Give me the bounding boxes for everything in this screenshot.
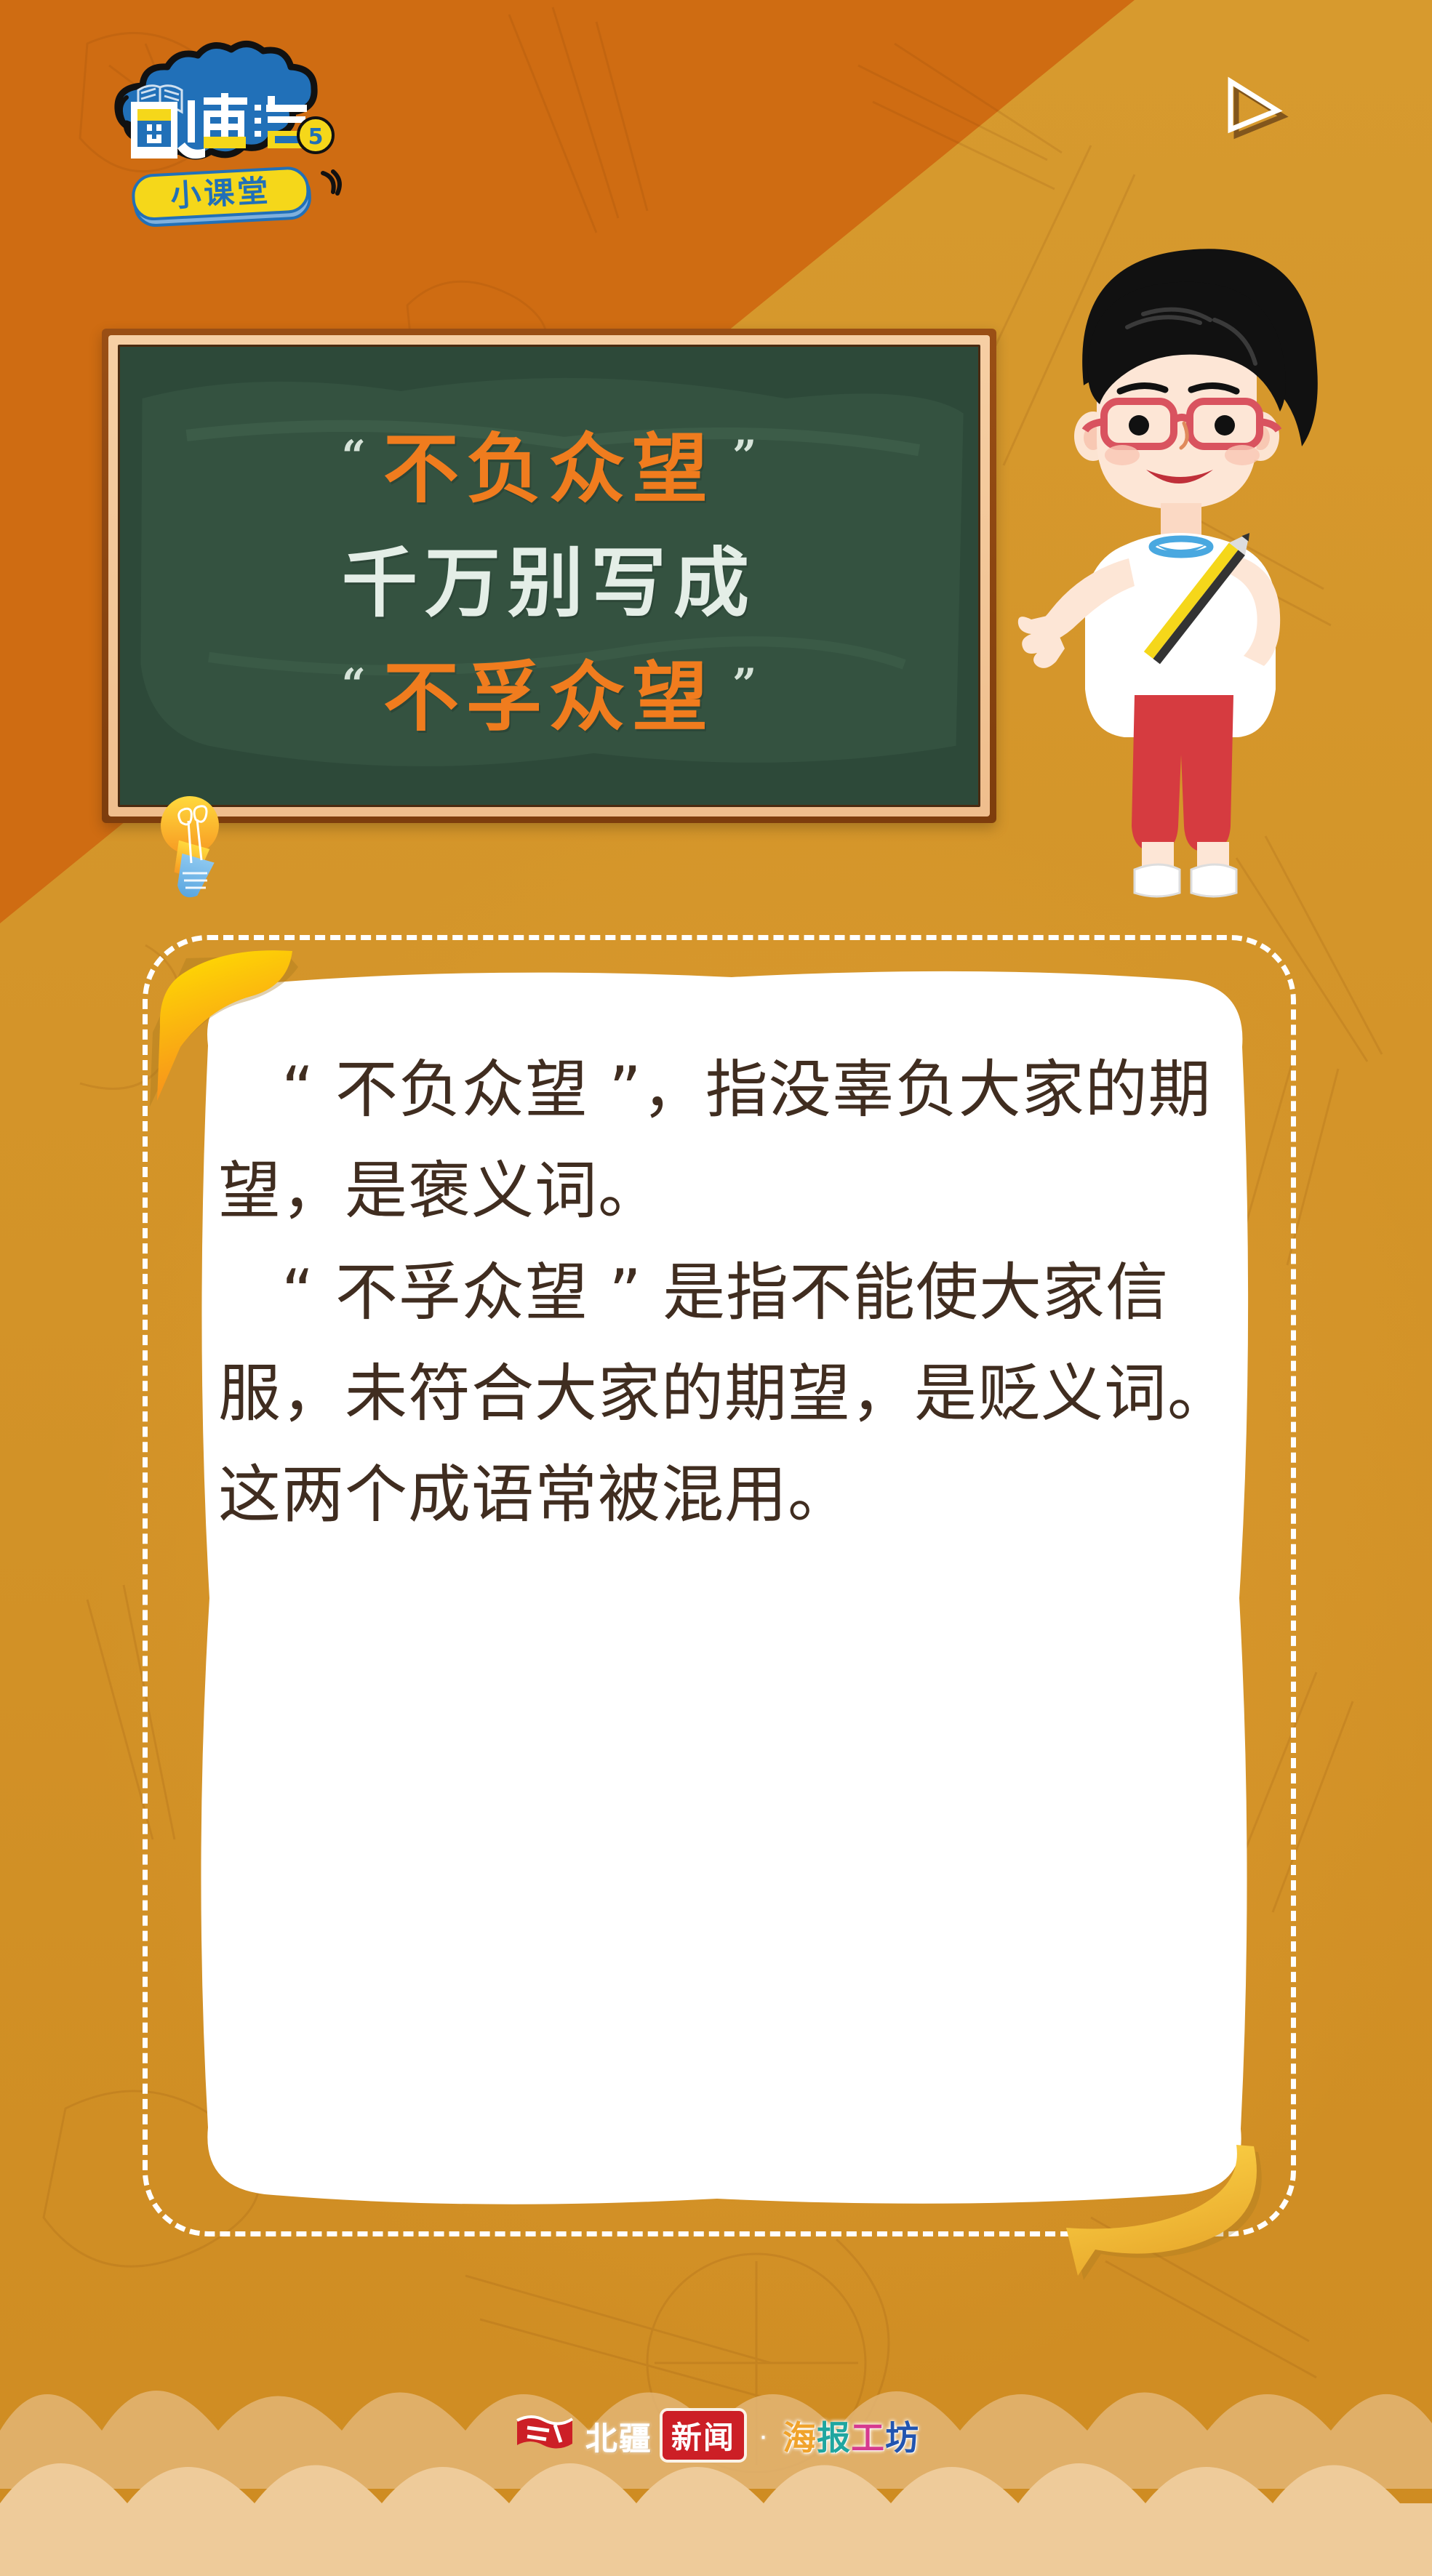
quote-open-icon: “ xyxy=(342,444,366,469)
workshop-char-2: 报 xyxy=(817,2412,851,2460)
logo-sub-banner: 小课堂 xyxy=(132,167,311,227)
logo-accent-tong xyxy=(204,137,246,148)
shoe-right xyxy=(1191,864,1236,896)
footer-brand-badge: 新闻 xyxy=(663,2411,744,2460)
cheek-right xyxy=(1225,445,1260,465)
blackboard-line-2: 千万别写成 xyxy=(120,521,978,631)
blackboard-line-1: “ 不负众望 ” xyxy=(120,407,978,517)
shoe-left xyxy=(1135,864,1180,896)
card-body-text: “ 不负众望 ”，指没辜负大家的期望，是褒义词。 “ 不孚众望 ” 是指不能使大… xyxy=(218,1040,1236,2145)
card-paragraph-2: “ 不孚众望 ” 是指不能使大家信服，未符合大家的期望，是贬义词。这两个成语常被… xyxy=(218,1243,1236,1546)
cheek-left xyxy=(1105,445,1140,465)
blackboard-warning-text: 千万别写成 xyxy=(342,521,756,631)
workshop-char-4: 坊 xyxy=(885,2412,919,2460)
footer-separator: · xyxy=(754,2421,772,2450)
blackboard-surface: “ 不负众望 ” 千万别写成 “ 不孚众望 ” xyxy=(118,345,980,807)
quote-close-icon-2: ” xyxy=(732,672,756,697)
blackboard-phrase-wrong: 不孚众望 xyxy=(383,635,715,745)
ribbon-top-left xyxy=(143,945,339,1112)
blackboard-frame: “ 不负众望 ” 千万别写成 “ 不孚众望 ” xyxy=(108,335,990,816)
ribbon-bottom-right xyxy=(1040,2145,1280,2298)
logo-sub-banner-text: 小课堂 xyxy=(169,173,271,214)
logo-char-guo xyxy=(131,102,177,159)
workshop-char-3: 工 xyxy=(851,2412,885,2460)
logo-accent-yu-inner xyxy=(275,136,298,143)
poster-canvas: 5 小课堂 xyxy=(0,0,1432,2576)
footer-brand: 北疆 xyxy=(585,2412,652,2459)
program-logo: 5 小课堂 xyxy=(93,64,355,238)
lightbulb-icon xyxy=(156,787,236,911)
workshop-char-1: 海 xyxy=(783,2412,817,2460)
pants xyxy=(1132,695,1233,852)
eye-left xyxy=(1129,415,1149,436)
quote-open-icon-2: “ xyxy=(342,672,366,697)
blackboard-lines: “ 不负众望 ” 千万别写成 “ 不孚众望 ” xyxy=(120,347,978,805)
boy-student-illustration xyxy=(1018,218,1360,923)
eye-right xyxy=(1215,415,1235,436)
blackboard-phrase-correct: 不负众望 xyxy=(383,407,715,517)
play-triangle-icon xyxy=(1225,76,1290,143)
episode-badge-number: 5 xyxy=(308,124,324,150)
blackboard: “ 不负众望 ” 千万别写成 “ 不孚众望 ” xyxy=(102,329,996,823)
quote-close-icon: ” xyxy=(732,444,756,469)
footer-workshop: 海 报 工 坊 xyxy=(783,2412,919,2460)
footer-brand-bar: 北疆 新闻 · 海 报 工 坊 xyxy=(0,2411,1432,2460)
blackboard-line-3: “ 不孚众望 ” xyxy=(120,635,978,745)
red-flag-logo-icon xyxy=(513,2413,575,2458)
episode-badge: 5 xyxy=(298,118,333,153)
card-paragraph-1: “ 不负众望 ”，指没辜负大家的期望，是褒义词。 xyxy=(218,1040,1236,1243)
